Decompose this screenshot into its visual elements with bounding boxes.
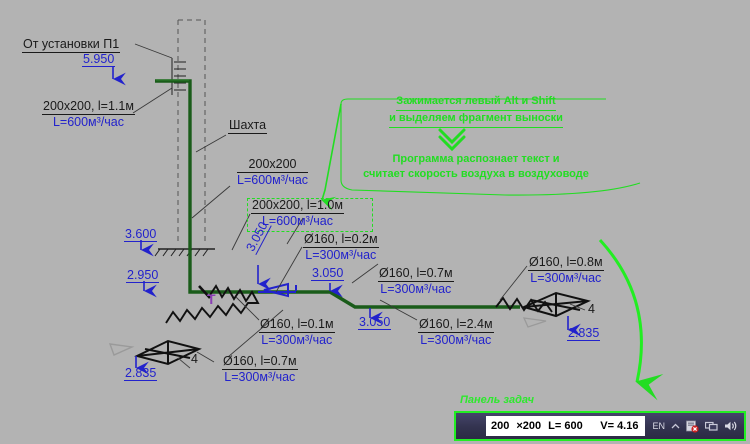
label-branch-24: Ø160, l=2.4м L=300м³/час [418,318,494,347]
diffuser-count-right: 4 [588,302,595,316]
language-indicator[interactable]: EN [652,421,665,431]
elevation-3050-right: 3.050 [358,315,391,330]
label-branch-08: Ø160, l=0.8м L=300м³/час [528,256,604,285]
label-branch-01: Ø160, l=0.1м L=300м³/час [259,318,335,347]
label-shaft-duct: 200x200 L=600м³/час [237,158,308,187]
label-shaft: Шахта [228,117,267,134]
label-branch-07a: Ø160, l=0.7м L=300м³/час [378,267,454,296]
label-branch-07b: Ø160, l=0.7м L=300м³/час [222,355,298,384]
annotation-taskbar-caption: Панель задач [460,394,534,406]
readout-width: 200 [491,420,509,432]
readout-flow: L= 600 [548,420,583,432]
annotation-arrow-to-taskbar [600,240,641,382]
annotation-text-bottom: Программа распознает текст и считает ско… [331,152,621,182]
show-hidden-icons-icon[interactable] [671,422,680,431]
floor-line-hatch [155,249,215,256]
duct-calculation-readout[interactable]: 200 ×200 L= 600 V= 4.16 [486,416,645,436]
volume-icon[interactable] [724,420,738,432]
elevation-3600: 3.600 [124,227,157,242]
antivirus-alert-icon[interactable] [686,420,699,433]
drawing-canvas: От установки П1 5.950 200x200, l=1.1м L=… [0,0,750,444]
elevation-2835-right: 2.835 [567,326,600,341]
label-riser-duct: 200x200, l=1.1м L=600м³/час [42,100,135,129]
taskbar-highlight-box: 200 ×200 L= 600 V= 4.16 EN [454,411,746,441]
label-branch-02: Ø160, l=0.2м L=300м³/час [303,233,379,262]
diffuser-left [110,341,199,368]
label-source: От установки П1 [22,36,120,53]
system-tray[interactable]: EN [645,420,744,433]
elevation-5950: 5.950 [82,52,115,67]
network-icon[interactable] [705,420,718,432]
slab-hatch-top [172,58,186,95]
elevation-3050-mid: 3.050 [311,266,344,281]
windows-taskbar[interactable]: 200 ×200 L= 600 V= 4.16 EN [456,413,744,439]
thermostat-marker-icon: T [207,291,216,307]
readout-height: ×200 [516,420,541,432]
diffuser-count-left: 4 [191,352,198,366]
elevation-2950: 2.950 [126,268,159,283]
diffuser-right [524,293,588,327]
elevation-2835-left: 2.835 [124,366,157,381]
readout-velocity: V= 4.16 [600,420,638,432]
annotation-chevron-icon [440,130,464,149]
annotation-text-top: Зажимается левый Alt и Shift и выделяем … [341,94,611,128]
